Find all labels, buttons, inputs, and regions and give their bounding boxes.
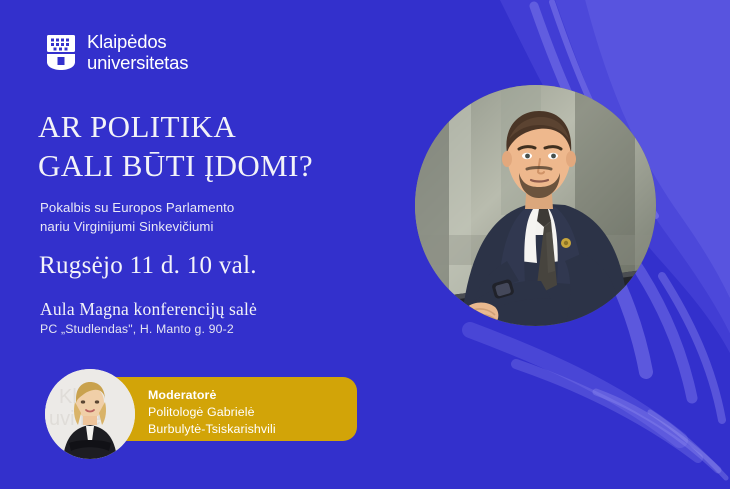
venue-name: Aula Magna konferencijų salė (40, 299, 257, 320)
moderator-info: Moderatorė Politologė Gabrielė Burbulytė… (148, 387, 353, 438)
moderator-name: Politologė Gabrielė Burbulytė-Tsiskarish… (148, 404, 353, 438)
logo-text: Klaipėdos universitetas (87, 32, 188, 73)
event-poster: Klaipėdos universitetas AR POLITIKA GALI… (0, 0, 730, 489)
klaipeda-university-crest-icon (46, 34, 76, 71)
venue-address: PC „Studlendas", H. Manto g. 90-2 (40, 322, 234, 336)
page-title: AR POLITIKA GALI BŪTI ĮDOMI? (38, 108, 313, 186)
university-logo: Klaipėdos universitetas (46, 32, 188, 73)
moderator-role-label: Moderatorė (148, 387, 353, 404)
speaker-portrait (415, 85, 656, 326)
event-datetime: Rugsėjo 11 d. 10 val. (39, 252, 257, 280)
event-subtitle: Pokalbis su Europos Parlamento nariu Vir… (40, 198, 234, 236)
moderator-avatar: Klai uvi ite (45, 369, 135, 459)
